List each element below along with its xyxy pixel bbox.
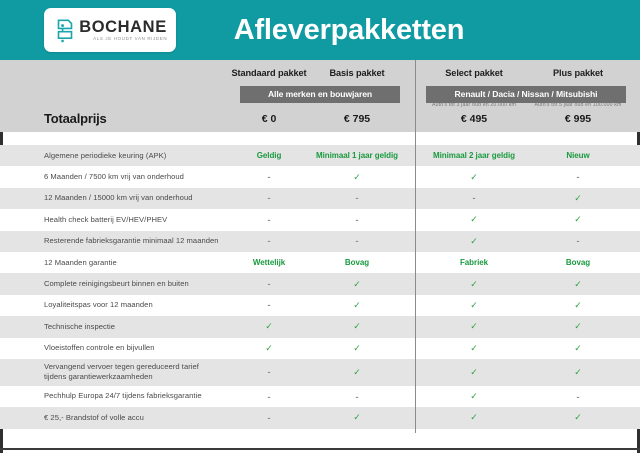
table-row: Pechhulp Europa 24/7 tijdens fabrieksgar… — [0, 386, 640, 407]
afleverpakketten-page: BOCHANE ALS JE HOUDT VAN RIJDEN Afleverp… — [0, 0, 640, 453]
feature-value: Wettelijk — [224, 252, 314, 273]
table-row: Vervangend vervoer tegen gereduceerd tar… — [0, 359, 640, 386]
not-included-dash: - — [224, 188, 314, 209]
check-icon: ✓ — [530, 188, 626, 209]
feature-label: 6 Maanden / 7500 km vrij van onderhoud — [44, 166, 184, 187]
not-included-dash: - — [314, 231, 400, 252]
check-icon: ✓ — [424, 273, 524, 294]
not-included-dash: - — [530, 166, 626, 187]
total-price-plus: € 995 — [530, 113, 626, 125]
feature-label: Resterende fabrieksgarantie minimaal 12 … — [44, 231, 219, 252]
package-group-divider — [415, 60, 416, 433]
feature-value: Minimaal 2 jaar geldig — [424, 145, 524, 166]
total-price-row: Totaalprijs € 0 € 795 € 495 € 995 — [0, 107, 640, 132]
feature-label: Health check batterij EV/HEV/PHEV — [44, 209, 167, 230]
not-included-dash: - — [224, 273, 314, 294]
feature-value: Bovag — [314, 252, 400, 273]
left-group-badge-wrap: Alle merken en bouwjaren — [240, 82, 400, 103]
check-icon: ✓ — [424, 209, 524, 230]
table-row: Technische inspectie✓✓✓✓ — [0, 316, 640, 337]
check-icon: ✓ — [424, 166, 524, 187]
check-icon: ✓ — [224, 316, 314, 337]
not-included-dash: - — [224, 407, 314, 428]
package-name: Standaard pakket — [224, 60, 314, 78]
table-row: 12 Maanden garantieWettelijkBovagFabriek… — [0, 252, 640, 273]
check-icon: ✓ — [530, 316, 626, 337]
check-icon: ✓ — [424, 295, 524, 316]
table-row: Vloeistoffen controle en bijvullen✓✓✓✓ — [0, 338, 640, 359]
check-icon: ✓ — [424, 338, 524, 359]
not-included-dash: - — [224, 209, 314, 230]
check-icon: ✓ — [314, 166, 400, 187]
column-header-plus: Plus pakket — [530, 60, 626, 78]
not-included-dash: - — [224, 359, 314, 386]
total-price-select: € 495 — [424, 113, 524, 125]
not-included-dash: - — [314, 209, 400, 230]
feature-label: Loyaliteitspas voor 12 maanden — [44, 295, 153, 316]
not-included-dash: - — [530, 386, 626, 407]
table-row: € 25,- Brandstof of volle accu-✓✓✓ — [0, 407, 640, 428]
check-icon: ✓ — [424, 316, 524, 337]
column-header-standaard: Standaard pakket — [224, 60, 314, 78]
check-icon: ✓ — [530, 338, 626, 359]
check-icon: ✓ — [314, 359, 400, 386]
column-header-basis: Basis pakket — [314, 60, 400, 78]
table-row: 6 Maanden / 7500 km vrij van onderhoud-✓… — [0, 166, 640, 187]
check-icon: ✓ — [530, 209, 626, 230]
package-name: Basis pakket — [314, 60, 400, 78]
package-name: Plus pakket — [530, 60, 626, 78]
feature-value: Geldig — [224, 145, 314, 166]
check-icon: ✓ — [424, 386, 524, 407]
page-title: Afleverpakketten — [0, 14, 640, 47]
features-table: Algemene periodieke keuring (APK)GeldigM… — [0, 145, 640, 429]
bottom-border — [0, 448, 640, 450]
check-icon: ✓ — [314, 407, 400, 428]
table-row: Algemene periodieke keuring (APK)GeldigM… — [0, 145, 640, 166]
feature-value: Minimaal 1 jaar geldig — [314, 145, 400, 166]
not-included-dash: - — [424, 188, 524, 209]
not-included-dash: - — [314, 386, 400, 407]
not-included-dash: - — [224, 295, 314, 316]
check-icon: ✓ — [424, 407, 524, 428]
not-included-dash: - — [530, 231, 626, 252]
not-included-dash: - — [224, 166, 314, 187]
check-icon: ✓ — [314, 338, 400, 359]
check-icon: ✓ — [530, 295, 626, 316]
feature-label: 12 Maanden / 15000 km vrij van onderhoud — [44, 188, 193, 209]
left-group-badge: Alle merken en bouwjaren — [240, 86, 400, 103]
feature-label: Vloeistoffen controle en bijvullen — [44, 338, 154, 359]
feature-value: Bovag — [530, 252, 626, 273]
table-row: Loyaliteitspas voor 12 maanden-✓✓✓ — [0, 295, 640, 316]
feature-value: Fabriek — [424, 252, 524, 273]
package-subtitle: Auto's tot 5 jaar oud en 100.000 km — [514, 101, 640, 107]
table-row: Resterende fabrieksgarantie minimaal 12 … — [0, 231, 640, 252]
feature-label: Complete reinigingsbeurt binnen en buite… — [44, 273, 189, 294]
total-price-basis: € 795 — [314, 113, 400, 125]
plus-subtitle-wrap: Auto's tot 5 jaar oud en 100.000 km — [528, 98, 628, 106]
check-icon: ✓ — [530, 359, 626, 386]
check-icon: ✓ — [314, 316, 400, 337]
table-row: Complete reinigingsbeurt binnen en buite… — [0, 273, 640, 294]
page-header: BOCHANE ALS JE HOUDT VAN RIJDEN Afleverp… — [0, 0, 640, 60]
check-icon: ✓ — [424, 359, 524, 386]
feature-label: € 25,- Brandstof of volle accu — [44, 407, 144, 428]
not-included-dash: - — [224, 386, 314, 407]
check-icon: ✓ — [530, 273, 626, 294]
feature-value: Nieuw — [530, 145, 626, 166]
spacer — [0, 132, 640, 145]
table-row: Health check batterij EV/HEV/PHEV--✓✓ — [0, 209, 640, 230]
package-header-band: Standaard pakket Basis pakket Alle merke… — [0, 60, 640, 107]
check-icon: ✓ — [224, 338, 314, 359]
feature-label: 12 Maanden garantie — [44, 252, 117, 273]
feature-label: Technische inspectie — [44, 316, 115, 337]
check-icon: ✓ — [424, 231, 524, 252]
package-name: Select pakket — [424, 60, 524, 78]
not-included-dash: - — [314, 188, 400, 209]
check-icon: ✓ — [314, 273, 400, 294]
check-icon: ✓ — [530, 407, 626, 428]
feature-label: Pechhulp Europa 24/7 tijdens fabrieksgar… — [44, 386, 202, 407]
total-price-standaard: € 0 — [224, 113, 314, 125]
feature-label: Vervangend vervoer tegen gereduceerd tar… — [44, 359, 199, 386]
not-included-dash: - — [224, 231, 314, 252]
total-price-label: Totaalprijs — [44, 111, 107, 126]
table-row: 12 Maanden / 15000 km vrij van onderhoud… — [0, 188, 640, 209]
check-icon: ✓ — [314, 295, 400, 316]
column-header-select: Select pakket — [424, 60, 524, 78]
select-subtitle-wrap: Auto's tot 3 jaar oud en 20.000 km — [424, 98, 524, 106]
feature-label: Algemene periodieke keuring (APK) — [44, 145, 166, 166]
